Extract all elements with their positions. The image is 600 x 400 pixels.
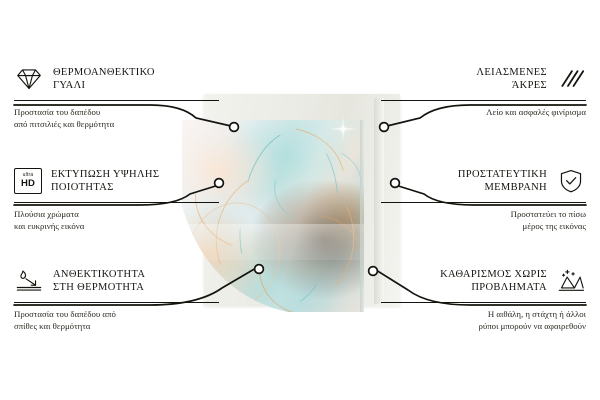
feature-heat-durability[interactable]: ΑΝΘΕΚΤΙΚΟΤΗΤΑ ΣΤΗ ΘΕΡΜΟΤΗΤΑ Προστασία το… [14,264,219,332]
ultra-hd-bottom-label: HD [21,179,35,189]
feature-easy-cleaning[interactable]: ΚΑΘΑΡΙΣΜΟΣ ΧΩΡΙΣ ΠΡΟΒΛΗΜΑΤΑ Η αιθάλη, η … [381,264,586,332]
divider [14,100,219,101]
shield-check-icon [556,168,586,194]
infographic-canvas: ΘΕΡΜΟΑΝΘΕΚΤΙΚΟ ΓΥΑΛΙ Προστασία του δαπέδ… [0,0,600,400]
feature-subtitle: Πλούσια χρώματα και ευκρινής εικόνα [14,209,219,232]
feature-title: ΚΑΘΑΡΙΣΜΟΣ ΧΩΡΙΣ ΠΡΟΒΛΗΜΑΤΑ [440,268,547,294]
feature-protective-film[interactable]: ΠΡΟΣΤΑΤΕΥΤΙΚΗ ΜΕΜΒΡΑΝΗ Προστατεύει το πί… [381,164,586,232]
ultra-hd-badge-icon: ultra HD [14,168,42,194]
divider [14,302,219,303]
feature-subtitle: Προστασία του δαπέδου από πιτσιλιές και … [14,107,219,130]
connector-dot-4 [380,123,389,132]
feature-header: ultra HD ΕΚΤΥΠΩΣΗ ΥΨΗΛΗΣ ΠΟΙΟΤΗΤΑΣ [14,164,219,198]
divider [381,302,586,303]
feature-title: ΑΝΘΕΚΤΙΚΟΤΗΤΑ ΣΤΗ ΘΕΡΜΟΤΗΤΑ [53,268,145,294]
feature-subtitle: Η αιθάλη, η στάχτη ή άλλοι ρύποι μπορούν… [381,309,586,332]
flame-deflect-icon [14,268,44,294]
diamond-icon [14,66,44,92]
feature-heat-resistant-glass[interactable]: ΘΕΡΜΟΑΝΘΕΚΤΙΚΟ ΓΥΑΛΙ Προστασία του δαπέδ… [14,62,219,130]
connector-dot-1 [230,123,239,132]
connector-dot-3 [255,265,264,274]
feature-high-quality-print[interactable]: ultra HD ΕΚΤΥΠΩΣΗ ΥΨΗΛΗΣ ΠΟΙΟΤΗΤΑΣ Πλούσ… [14,164,219,232]
feature-subtitle: Προστατεύει το πίσω μέρος της εικόνας [381,209,586,232]
feature-subtitle: Προστασία του δαπέδου από σπίθες και θερ… [14,309,219,332]
polished-edges-icon [556,66,586,92]
sparkle-clean-icon [556,268,586,294]
divider [14,202,219,203]
feature-subtitle: Λείο και ασφαλές φινίρισμα [381,107,586,119]
feature-title: ΛΕΙΑΣΜΕΝΕΣ ΆΚΡΕΣ [476,66,547,92]
feature-header: ΘΕΡΜΟΑΝΘΕΚΤΙΚΟ ΓΥΑΛΙ [14,62,219,96]
divider [381,100,586,101]
feature-header: ΚΑΘΑΡΙΣΜΟΣ ΧΩΡΙΣ ΠΡΟΒΛΗΜΑΤΑ [381,264,586,298]
connector-dot-6 [369,267,378,276]
feature-header: ΠΡΟΣΤΑΤΕΥΤΙΚΗ ΜΕΜΒΡΑΝΗ [381,164,586,198]
feature-title: ΘΕΡΜΟΑΝΘΕΚΤΙΚΟ ΓΥΑΛΙ [53,66,155,92]
feature-polished-edges[interactable]: ΛΕΙΑΣΜΕΝΕΣ ΆΚΡΕΣ Λείο και ασφαλές φινίρι… [381,62,586,119]
feature-title: ΠΡΟΣΤΑΤΕΥΤΙΚΗ ΜΕΜΒΡΑΝΗ [458,168,547,194]
feature-header: ΑΝΘΕΚΤΙΚΟΤΗΤΑ ΣΤΗ ΘΕΡΜΟΤΗΤΑ [14,264,219,298]
feature-title: ΕΚΤΥΠΩΣΗ ΥΨΗΛΗΣ ΠΟΙΟΤΗΤΑΣ [51,168,159,194]
divider [381,202,586,203]
feature-header: ΛΕΙΑΣΜΕΝΕΣ ΆΚΡΕΣ [381,62,586,96]
